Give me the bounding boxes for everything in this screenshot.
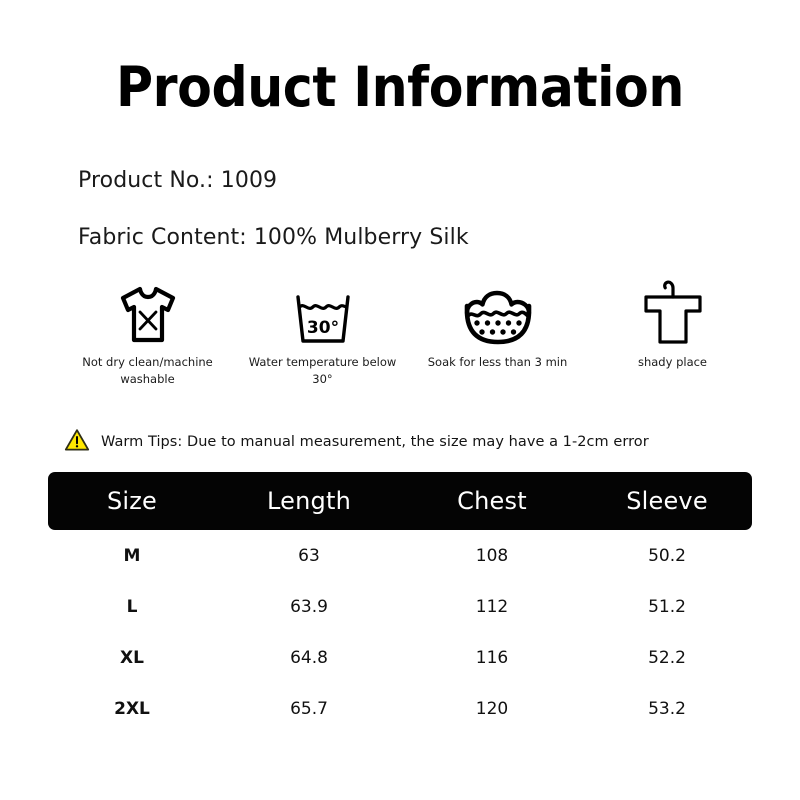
cell-size: L	[48, 597, 216, 617]
warning-triangle-icon	[64, 428, 90, 456]
cell-chest: 120	[402, 699, 582, 719]
table-row: 2XL 65.7 120 53.2	[48, 683, 752, 734]
care-item-water-temperature: 30° Water temperature below 30°	[235, 275, 410, 387]
cell-size: 2XL	[48, 699, 216, 719]
page-title: Product Information	[32, 55, 768, 119]
cell-sleeve: 52.2	[582, 648, 752, 668]
cell-chest: 108	[402, 546, 582, 566]
care-item-no-dry-clean: Not dry clean/machine washable	[60, 275, 235, 387]
care-caption: Not dry clean/machine washable	[68, 354, 228, 387]
care-instruction-row: Not dry clean/machine washable 30° Water…	[60, 275, 760, 387]
column-header-length: Length	[216, 487, 402, 515]
wash-temperature-value: 30°	[306, 318, 338, 338]
care-caption: Water temperature below 30°	[243, 354, 403, 387]
soak-basin-icon	[461, 275, 535, 347]
warm-tips: Warm Tips: Due to manual measurement, th…	[64, 428, 649, 456]
table-row: M 63 108 50.2	[48, 530, 752, 581]
cell-size: XL	[48, 648, 216, 668]
warm-tips-text: Warm Tips: Due to manual measurement, th…	[101, 434, 649, 450]
care-item-soak-time: Soak for less than 3 min	[410, 275, 585, 371]
column-header-chest: Chest	[402, 487, 582, 515]
fabric-content: Fabric Content: 100% Mulberry Silk	[78, 225, 469, 250]
care-item-shady-place: shady place	[585, 275, 760, 371]
cell-sleeve: 51.2	[582, 597, 752, 617]
size-table: Size Length Chest Sleeve M 63 108 50.2 L…	[48, 472, 752, 734]
cell-chest: 112	[402, 597, 582, 617]
cell-size: M	[48, 546, 216, 566]
care-caption: Soak for less than 3 min	[428, 354, 568, 371]
cell-sleeve: 53.2	[582, 699, 752, 719]
care-caption: shady place	[638, 354, 707, 371]
cell-chest: 116	[402, 648, 582, 668]
table-row: L 63.9 112 51.2	[48, 581, 752, 632]
cell-sleeve: 50.2	[582, 546, 752, 566]
hanger-shirt-icon	[639, 275, 707, 347]
wash-tub-30-degree-icon: 30°	[290, 275, 356, 347]
cell-length: 63.9	[216, 597, 402, 617]
cell-length: 65.7	[216, 699, 402, 719]
column-header-sleeve: Sleeve	[582, 487, 752, 515]
column-header-size: Size	[48, 487, 216, 515]
table-row: XL 64.8 116 52.2	[48, 632, 752, 683]
size-table-header: Size Length Chest Sleeve	[48, 472, 752, 530]
product-information-page: Product Information Product No.: 1009 Fa…	[0, 0, 800, 800]
product-number: Product No.: 1009	[78, 168, 277, 193]
cell-length: 63	[216, 546, 402, 566]
cell-length: 64.8	[216, 648, 402, 668]
no-dry-clean-tshirt-icon	[113, 275, 183, 347]
